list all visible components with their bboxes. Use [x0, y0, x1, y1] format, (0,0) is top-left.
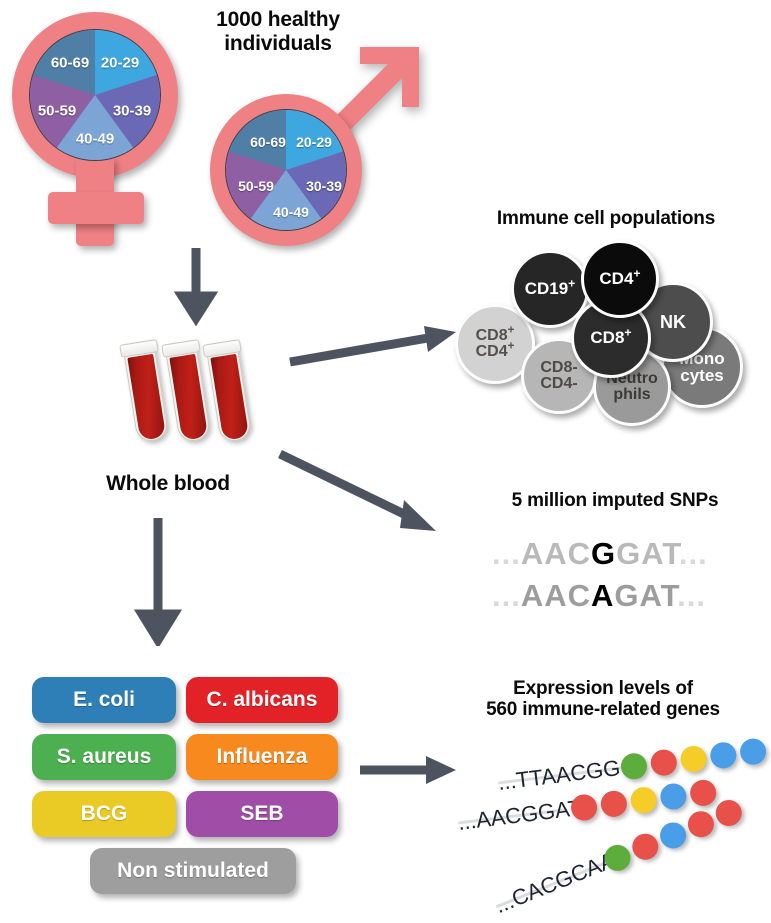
stimulus-seb[interactable]: SEB: [186, 791, 338, 837]
pie-label-60-69: 60-69: [51, 55, 89, 72]
snp-sequence-row-2: ...AACAGAT...: [492, 578, 706, 614]
strand-dot: [628, 830, 662, 864]
pie-label-40-49: 40-49: [76, 131, 114, 148]
strand-sequence: ...AACGGAT: [456, 795, 583, 836]
snp-sequence-row-1: ...AACGGAT...: [492, 536, 708, 572]
arrow-stimuli-to-expression: [358, 752, 468, 794]
pie-label-50-59: 50-59: [38, 103, 76, 120]
pie-label-20-29: 20-29: [101, 55, 139, 72]
arrow-blood-to-immune: [288, 322, 463, 377]
blood-tube: [205, 339, 252, 443]
cell-label-line2: CD4-: [540, 376, 577, 392]
snp-suffix-bases: GAT: [614, 578, 677, 613]
pie-label-60-69: 60-69: [250, 134, 286, 150]
cell-label-line2: CD4+: [476, 344, 515, 360]
stimulus-bcg[interactable]: BCG: [32, 791, 176, 837]
male-gender-symbol: 20-29 30-39 40-49 50-59 60-69: [196, 72, 411, 252]
strand-dot: [659, 782, 688, 811]
strand-dot: [656, 819, 690, 853]
pie-label-30-39: 30-39: [113, 103, 151, 120]
strand-dot: [684, 807, 718, 841]
cell-label-line1: CD8-: [540, 360, 577, 376]
strand-dot: [679, 745, 708, 774]
stimulus-label: S. aureus: [57, 745, 152, 769]
arrow-blood-to-stimuli: [132, 518, 192, 646]
snp-lead-ellipsis: ...: [492, 536, 521, 571]
strand-dot: [649, 748, 678, 777]
arrow-blood-to-snps: [276, 432, 456, 544]
female-gender-symbol: 20-29 30-39 40-49 50-59 60-69: [4, 8, 189, 248]
arrow-cohort-to-blood: [170, 248, 230, 326]
cell-label-cd8: CD8+: [590, 329, 631, 347]
pie-label-20-29: 20-29: [296, 134, 332, 150]
snp-lead-ellipsis: ...: [492, 578, 521, 613]
strand-dot: [712, 796, 746, 830]
snp-suffix-bases: GAT: [616, 536, 679, 571]
stimulus-s-aureus[interactable]: S. aureus: [32, 734, 176, 780]
snp-trail-ellipsis: ...: [677, 578, 706, 613]
blood-tube-group: [108, 340, 238, 455]
cell-label-cd4: CD4+: [599, 270, 640, 288]
cell-label-line2: cytes: [680, 367, 723, 385]
snp-trail-ellipsis: ...: [679, 536, 708, 571]
strand-sequence: ...CACGCAA: [491, 847, 619, 919]
pie-label-50-59: 50-59: [238, 178, 274, 194]
stimulus-e-coli[interactable]: E. coli: [32, 677, 176, 723]
stimulus-influenza[interactable]: Influenza: [186, 734, 338, 780]
cell-label-line2: phils: [613, 387, 650, 403]
strand-dot: [739, 737, 768, 766]
female-symbol-crossbar: [48, 192, 144, 224]
snp-prefix-bases: AAC: [521, 536, 591, 571]
snp-prefix-bases: AAC: [521, 578, 591, 613]
stimulus-label: SEB: [240, 802, 283, 826]
pie-label-40-49: 40-49: [273, 204, 309, 220]
snp-highlight-base: G: [591, 536, 616, 571]
snp-highlight-base: A: [591, 578, 614, 613]
strand-dot: [629, 786, 658, 815]
immune-cell-cluster: CD8+ CD4+ CD8- CD4- Mono cytes Neutro ph…: [455, 240, 755, 425]
strand-dot: [709, 741, 738, 770]
immune-cell-cd4pos: CD4+: [581, 240, 659, 318]
stimulus-label: E. coli: [73, 688, 135, 712]
cell-label-cd19: CD19+: [525, 280, 576, 298]
stimulus-label: C. albicans: [207, 688, 318, 712]
expression-title: Expression levels of 560 immune-related …: [440, 678, 766, 721]
stimulus-label: Non stimulated: [117, 859, 269, 883]
whole-blood-label: Whole blood: [78, 472, 258, 496]
immune-populations-title: Immune cell populations: [448, 208, 764, 229]
strand-dot: [599, 789, 628, 818]
cell-label-nk: NK: [660, 313, 686, 332]
dna-strand-group: ...TTAACGG ...AACGGAT ...CACGCAA: [470, 740, 770, 910]
stimulus-label: BCG: [81, 802, 128, 826]
stimulus-c-albicans[interactable]: C. albicans: [186, 677, 338, 723]
cohort-title: 1000 healthy individuals: [178, 8, 378, 55]
pie-label-30-39: 30-39: [306, 178, 342, 194]
stimulus-non-stimulated[interactable]: Non stimulated: [90, 848, 296, 894]
stimulus-label: Influenza: [216, 745, 307, 769]
strand-dot: [619, 752, 648, 781]
snps-title: 5 million imputed SNPs: [470, 490, 760, 511]
